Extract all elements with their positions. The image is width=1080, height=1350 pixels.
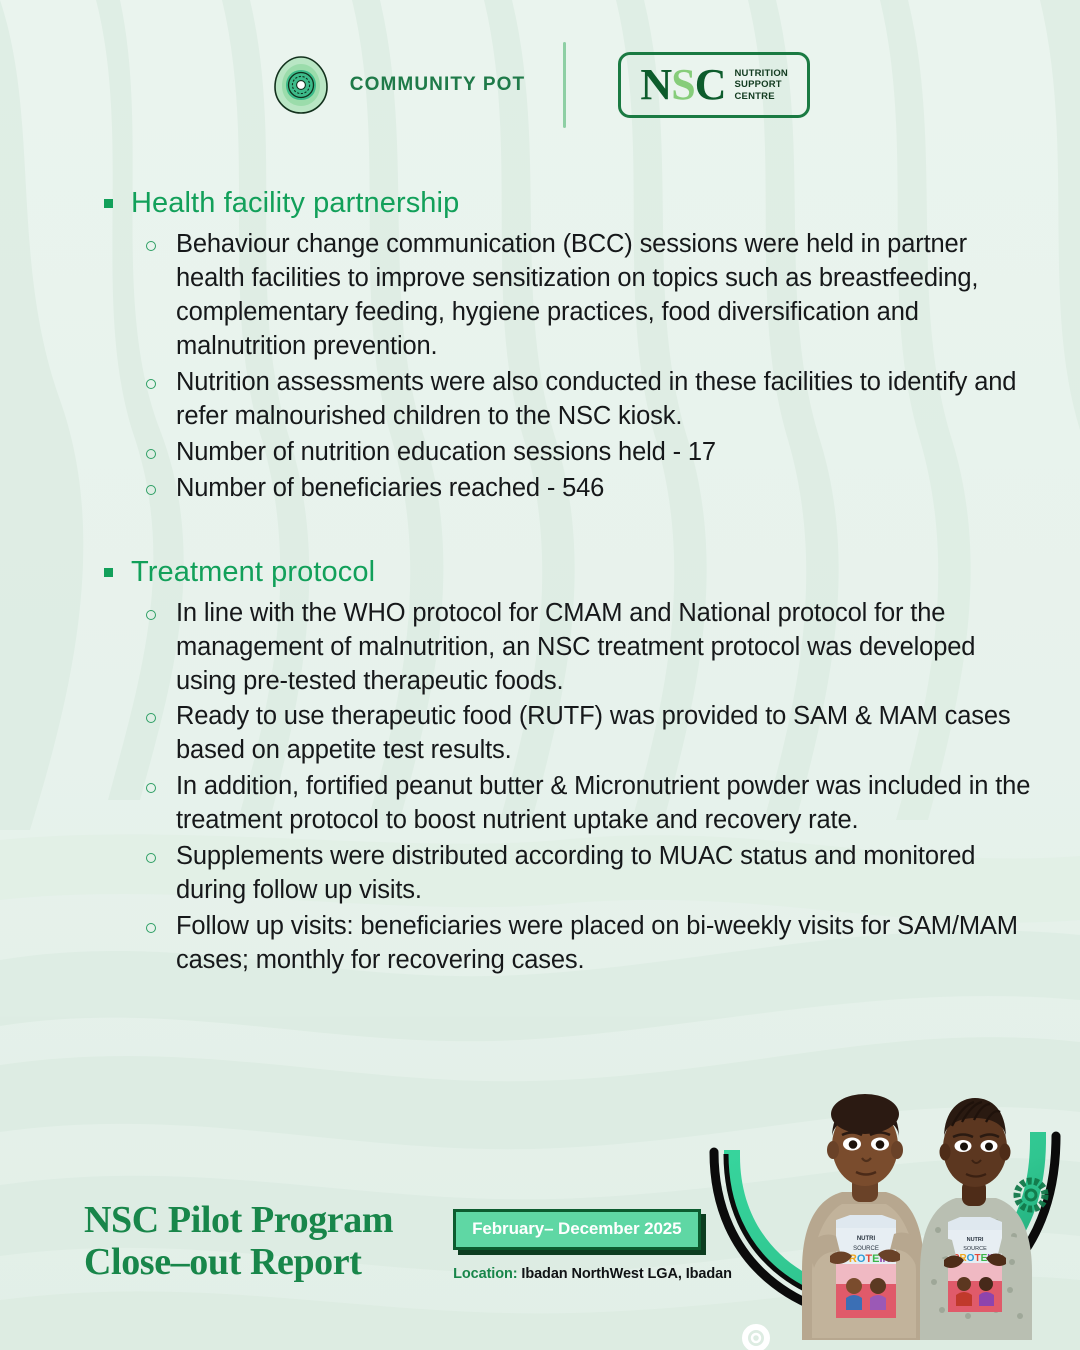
protein-packet-left: NUTRI SOURCE PROTEIN — [836, 1215, 896, 1318]
list-item: Behaviour change communication (BCC) ses… — [140, 228, 1034, 364]
nsc-subtitle-line-3: CENTRE — [734, 91, 788, 102]
community-pot-label: COMMUNITY POT — [350, 74, 525, 96]
date-range-badge: February– December 2025 — [453, 1209, 700, 1250]
nsc-logo-box: NSC NUTRITION SUPPORT CENTRE — [618, 52, 810, 118]
poster-footer: NSC Pilot Program Close–out Report Febru… — [84, 1199, 732, 1284]
nsc-letter-s: S — [671, 60, 694, 109]
location-label: Location: — [453, 1266, 517, 1282]
nsc-letter-n: N — [640, 60, 671, 109]
community-pot-logo: COMMUNITY POT — [270, 54, 563, 116]
list-item: In addition, fortified peanut butter & M… — [140, 770, 1034, 838]
nsc-letter-c: C — [695, 60, 726, 109]
square-bullet-icon — [104, 568, 113, 577]
list-item: Follow up visits: beneficiaries were pla… — [140, 910, 1034, 978]
section-item-list: In line with the WHO protocol for CMAM a… — [140, 597, 1034, 978]
content-body: Health facility partnership Behaviour ch… — [104, 185, 1034, 988]
nsc-subtitle: NUTRITION SUPPORT CENTRE — [734, 68, 788, 102]
nsc-subtitle-line-2: SUPPORT — [734, 79, 788, 90]
child-right: NUTRI SOURCE PROTEIN — [920, 1098, 1032, 1340]
section-health-facility-partnership: Health facility partnership Behaviour ch… — [104, 185, 1034, 506]
list-item: Ready to use therapeutic food (RUTF) was… — [140, 700, 1034, 768]
section-title: Health facility partnership — [131, 185, 459, 221]
report-title: NSC Pilot Program Close–out Report — [84, 1199, 393, 1284]
list-item: In line with the WHO protocol for CMAM a… — [140, 597, 1034, 699]
list-item: Supplements were distributed according t… — [140, 840, 1034, 908]
section-treatment-protocol: Treatment protocol In line with the WHO … — [104, 554, 1034, 978]
list-item: Nutrition assessments were also conducte… — [140, 366, 1034, 434]
list-item: Number of nutrition education sessions h… — [140, 436, 1034, 470]
child-left: NUTRI SOURCE PROTEIN — [802, 1094, 924, 1340]
square-bullet-icon — [104, 199, 113, 208]
svg-text:SOURCE: SOURCE — [853, 1246, 879, 1252]
svg-text:SOURCE: SOURCE — [963, 1246, 987, 1252]
poster-header: COMMUNITY POT NSC NUTRITION SUPPORT CENT… — [0, 42, 1080, 128]
section-item-list: Behaviour change communication (BCC) ses… — [140, 228, 1034, 505]
nsc-wordmark: NSC — [640, 63, 725, 107]
list-item: Number of beneficiaries reached - 546 — [140, 472, 1034, 506]
ring-decoration-bottom-left — [745, 1327, 767, 1349]
nsc-subtitle-line-1: NUTRITION — [734, 68, 788, 79]
poster-root: COMMUNITY POT NSC NUTRITION SUPPORT CENT… — [0, 0, 1080, 1350]
svg-text:NUTRI: NUTRI — [967, 1237, 984, 1243]
section-heading: Treatment protocol — [104, 554, 1034, 590]
section-heading: Health facility partnership — [104, 185, 1034, 221]
community-pot-leaf-icon — [270, 54, 332, 116]
beneficiary-photo: NUTRI SOURCE PROTEIN — [690, 1070, 1080, 1350]
section-title: Treatment protocol — [131, 554, 375, 590]
nsc-logo: NSC NUTRITION SUPPORT CENTRE — [566, 52, 810, 118]
svg-text:NUTRI: NUTRI — [857, 1236, 876, 1242]
